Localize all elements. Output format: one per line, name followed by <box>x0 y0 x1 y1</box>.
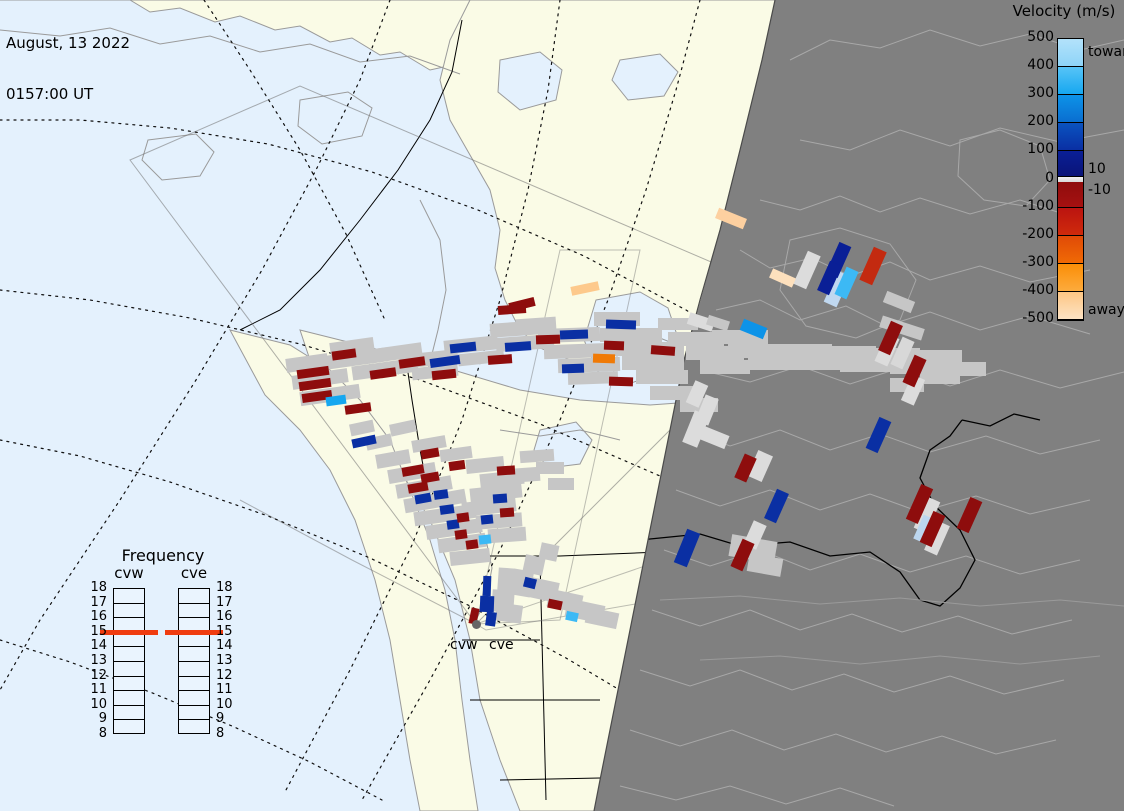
frequency-scale-label: 15 <box>216 624 240 639</box>
velocity-cell[interactable] <box>407 481 428 493</box>
velocity-cell[interactable] <box>479 534 492 544</box>
velocity-cell[interactable] <box>465 539 478 550</box>
frequency-scale-label: 8 <box>216 726 240 741</box>
colorbar-segment-toward-200-100 <box>1058 123 1083 151</box>
velocity-cell[interactable] <box>481 514 494 524</box>
velocity-cell[interactable] <box>651 345 676 356</box>
colorbar-segment-toward-500-400 <box>1058 39 1083 67</box>
colorbar-pos-threshold-label: 10 <box>1088 161 1106 177</box>
colorbar-gradient[interactable] <box>1057 38 1084 321</box>
velocity-cell[interactable] <box>450 342 477 354</box>
frequency-cell <box>179 706 209 721</box>
velocity-cell[interactable] <box>493 494 508 504</box>
frequency-scale-label: 18 <box>83 580 107 595</box>
velocity-cell[interactable] <box>448 460 465 471</box>
velocity-cell[interactable] <box>433 489 448 500</box>
colorbar-tick-300: 300 <box>1002 85 1054 101</box>
velocity-cell[interactable] <box>299 378 332 391</box>
velocity-cell[interactable] <box>547 599 563 611</box>
velocity-cell[interactable] <box>399 356 426 369</box>
frequency-cell <box>114 691 144 706</box>
velocity-cell[interactable] <box>420 472 439 484</box>
timestamp-time: 0157:00 UT <box>6 86 130 103</box>
velocity-cell[interactable] <box>730 539 754 572</box>
colorbar-toward-label: toward <box>1088 44 1124 60</box>
frequency-scale-label: 18 <box>216 580 240 595</box>
velocity-cell[interactable] <box>906 484 933 524</box>
frequency-cell <box>179 677 209 692</box>
radar-label-cvw: cvw <box>450 637 477 653</box>
colorbar-segment-away-10-100 <box>1058 182 1083 207</box>
frequency-column-cve[interactable] <box>178 588 210 734</box>
velocity-cell[interactable] <box>488 354 513 365</box>
velocity-colorbar: Velocity (m/s) 5004003002001000-100-200-… <box>1000 0 1124 340</box>
velocity-cell[interactable] <box>740 319 768 339</box>
velocity-cell[interactable] <box>430 355 461 368</box>
colorbar-tick--200: -200 <box>1002 226 1054 242</box>
velocity-cell[interactable] <box>734 453 756 482</box>
velocity-cell[interactable] <box>331 348 356 360</box>
timestamp-block: August, 13 2022 0157:00 UT <box>6 1 130 137</box>
frequency-scale-label: 13 <box>216 653 240 668</box>
frequency-scale-label: 9 <box>83 711 107 726</box>
velocity-cell[interactable] <box>866 417 892 453</box>
velocity-cell[interactable] <box>480 596 495 612</box>
velocity-cell[interactable] <box>769 268 796 287</box>
frequency-cell <box>114 662 144 677</box>
frequency-scale-label: 14 <box>216 638 240 653</box>
velocity-cell[interactable] <box>456 512 469 523</box>
velocity-cell[interactable] <box>439 504 454 515</box>
frequency-scale-label: 10 <box>83 697 107 712</box>
frequency-legend: Frequency cvw18171615141312111098cve1817… <box>83 546 243 776</box>
frequency-column-cvw[interactable] <box>113 588 145 734</box>
velocity-cell[interactable] <box>706 315 730 331</box>
colorbar-segment-toward-100-10 <box>1058 151 1083 176</box>
velocity-cell[interactable] <box>859 247 886 286</box>
frequency-cell <box>179 647 209 662</box>
velocity-cell[interactable] <box>764 489 789 524</box>
frequency-radar-name-cvw: cvw <box>106 564 152 582</box>
colorbar-tick--100: -100 <box>1002 198 1054 214</box>
frequency-cell <box>179 691 209 706</box>
frequency-cell <box>179 662 209 677</box>
frequency-cell <box>114 647 144 662</box>
colorbar-segment-toward-400-300 <box>1058 67 1083 95</box>
velocity-cell[interactable] <box>500 508 515 518</box>
colorbar-tick--400: -400 <box>1002 282 1054 298</box>
colorbar-segment-away-300-400 <box>1058 264 1083 292</box>
velocity-cell[interactable] <box>345 402 372 415</box>
timestamp-date: August, 13 2022 <box>6 35 130 52</box>
colorbar-segment-toward-300-200 <box>1058 95 1083 123</box>
velocity-cell[interactable] <box>505 341 532 352</box>
colorbar-tick--300: -300 <box>1002 254 1054 270</box>
frequency-cell <box>114 706 144 721</box>
radar-site-dot <box>472 620 481 629</box>
colorbar-title: Velocity (m/s) <box>1004 2 1124 20</box>
frequency-scale-label: 12 <box>216 668 240 683</box>
colorbar-tick-500: 500 <box>1002 29 1054 45</box>
colorbar-tick-0: 0 <box>1002 170 1054 186</box>
frequency-cell <box>114 720 144 735</box>
velocity-cell[interactable] <box>485 611 497 626</box>
colorbar-segment-away-200-300 <box>1058 236 1083 264</box>
velocity-cell[interactable] <box>370 367 397 380</box>
frequency-cell <box>179 604 209 619</box>
velocity-cell[interactable] <box>414 493 431 505</box>
frequency-scale-label: 16 <box>83 609 107 624</box>
frequency-cell <box>179 633 209 648</box>
frequency-cell <box>179 589 209 604</box>
colorbar-tick-100: 100 <box>1002 141 1054 157</box>
frequency-marker-cvw <box>100 630 158 635</box>
colorbar-tick--500: -500 <box>1002 310 1054 326</box>
velocity-cell[interactable] <box>351 435 376 449</box>
colorbar-tick-200: 200 <box>1002 113 1054 129</box>
frequency-scale-label: 13 <box>83 653 107 668</box>
velocity-cell[interactable] <box>297 366 330 379</box>
frequency-scale-label: 11 <box>83 682 107 697</box>
velocity-cell[interactable] <box>483 576 492 596</box>
frequency-legend-title: Frequency <box>83 546 243 565</box>
velocity-cell[interactable] <box>920 511 946 547</box>
velocity-cell[interactable] <box>674 529 700 568</box>
velocity-cell[interactable] <box>432 369 457 380</box>
velocity-cell[interactable] <box>498 304 527 315</box>
frequency-scale-label: 16 <box>216 609 240 624</box>
frequency-scale-label: 17 <box>83 595 107 610</box>
frequency-cell <box>114 633 144 648</box>
frequency-scale-label: 9 <box>216 711 240 726</box>
colorbar-tick-400: 400 <box>1002 57 1054 73</box>
frequency-scale-label: 11 <box>216 682 240 697</box>
frequency-cell <box>114 604 144 619</box>
colorbar-neg-threshold-label: -10 <box>1088 182 1111 198</box>
velocity-cell[interactable] <box>570 281 599 296</box>
velocity-cell[interactable] <box>606 319 636 329</box>
velocity-cell[interactable] <box>420 448 439 460</box>
velocity-cell[interactable] <box>565 611 579 622</box>
superdarn-map-screenshot: cvw cve August, 13 2022 0157:00 UT Veloc… <box>0 0 1124 811</box>
velocity-cell[interactable] <box>957 497 983 533</box>
velocity-cell[interactable] <box>454 529 467 540</box>
frequency-scale-label: 17 <box>216 595 240 610</box>
frequency-scale-label: 8 <box>83 726 107 741</box>
frequency-cell <box>114 677 144 692</box>
colorbar-segment-away-400-500 <box>1058 292 1083 320</box>
velocity-cell[interactable] <box>604 341 624 351</box>
frequency-scale-label: 12 <box>83 668 107 683</box>
colorbar-segment-away-100-200 <box>1058 208 1083 236</box>
frequency-scale-label: 14 <box>83 638 107 653</box>
velocity-cell[interactable] <box>560 330 588 340</box>
velocity-cell[interactable] <box>562 364 584 374</box>
colorbar-away-label: away <box>1088 302 1124 318</box>
velocity-cell[interactable] <box>609 377 633 387</box>
frequency-cell <box>179 720 209 735</box>
frequency-cell <box>114 589 144 604</box>
velocity-cell[interactable] <box>593 354 615 364</box>
radar-label-cve: cve <box>489 637 514 653</box>
frequency-marker-cve <box>165 630 223 635</box>
velocity-cell[interactable] <box>523 577 537 590</box>
frequency-scale-label: 10 <box>216 697 240 712</box>
frequency-scale-label: 15 <box>83 624 107 639</box>
velocity-cell[interactable] <box>497 465 516 475</box>
frequency-radar-name-cve: cve <box>171 564 217 582</box>
velocity-cell[interactable] <box>536 335 560 345</box>
velocity-cell[interactable] <box>715 208 747 229</box>
